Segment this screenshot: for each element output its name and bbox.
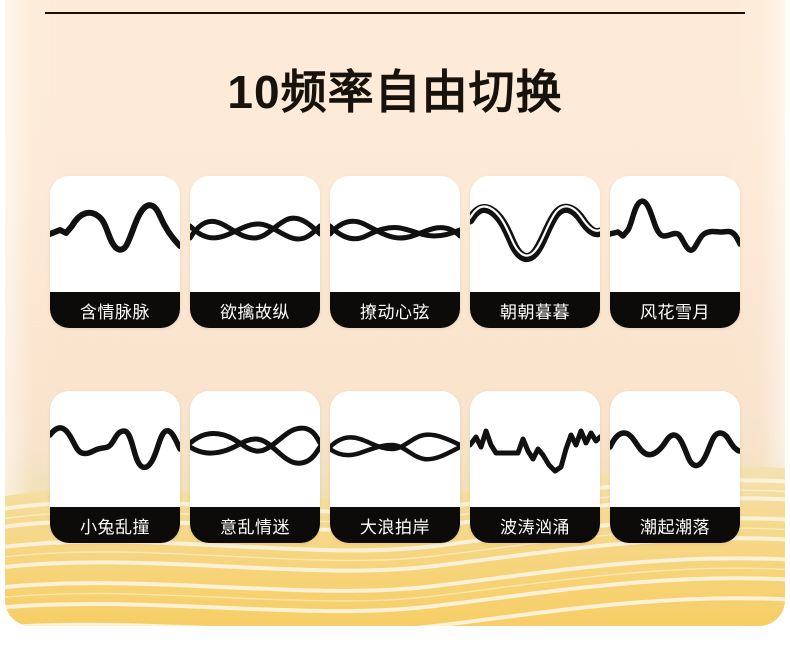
mode-row-1: 含情脉脉 欲擒故纵 bbox=[50, 176, 740, 328]
waveform-9 bbox=[470, 391, 600, 507]
mode-label-7: 意乱情迷 bbox=[190, 507, 320, 543]
waveform-5 bbox=[610, 176, 740, 292]
mode-label-10: 潮起潮落 bbox=[610, 507, 740, 543]
mode-card-7[interactable]: 意乱情迷 bbox=[190, 391, 320, 543]
frequency-mode-grid: 含情脉脉 欲擒故纵 bbox=[50, 176, 740, 543]
mode-card-1[interactable]: 含情脉脉 bbox=[50, 176, 180, 328]
mode-card-2[interactable]: 欲擒故纵 bbox=[190, 176, 320, 328]
promo-page: 10频率自由切换 含情脉脉 bbox=[0, 0, 790, 650]
mode-label-6: 小兔乱撞 bbox=[50, 507, 180, 543]
waveform-1 bbox=[50, 176, 180, 292]
waveform-8 bbox=[330, 391, 460, 507]
mode-row-2: 小兔乱撞 意乱情迷 bbox=[50, 391, 740, 543]
waveform-3 bbox=[330, 176, 460, 292]
waveform-10 bbox=[610, 391, 740, 507]
mode-card-6[interactable]: 小兔乱撞 bbox=[50, 391, 180, 543]
mode-card-4[interactable]: 朝朝暮暮 bbox=[470, 176, 600, 328]
mode-label-9: 波涛汹涌 bbox=[470, 507, 600, 543]
top-divider-rule bbox=[45, 12, 745, 14]
waveform-6 bbox=[50, 391, 180, 507]
mode-card-3[interactable]: 撩动心弦 bbox=[330, 176, 460, 328]
mode-card-8[interactable]: 大浪拍岸 bbox=[330, 391, 460, 543]
mode-label-2: 欲擒故纵 bbox=[190, 292, 320, 328]
mode-label-1: 含情脉脉 bbox=[50, 292, 180, 328]
mode-card-10[interactable]: 潮起潮落 bbox=[610, 391, 740, 543]
mode-card-5[interactable]: 风花雪月 bbox=[610, 176, 740, 328]
waveform-7 bbox=[190, 391, 320, 507]
page-title: 10频率自由切换 bbox=[0, 64, 790, 120]
waveform-2 bbox=[190, 176, 320, 292]
mode-label-5: 风花雪月 bbox=[610, 292, 740, 328]
waveform-4 bbox=[470, 176, 600, 292]
mode-label-8: 大浪拍岸 bbox=[330, 507, 460, 543]
mode-label-4: 朝朝暮暮 bbox=[470, 292, 600, 328]
mode-label-3: 撩动心弦 bbox=[330, 292, 460, 328]
mode-card-9[interactable]: 波涛汹涌 bbox=[470, 391, 600, 543]
